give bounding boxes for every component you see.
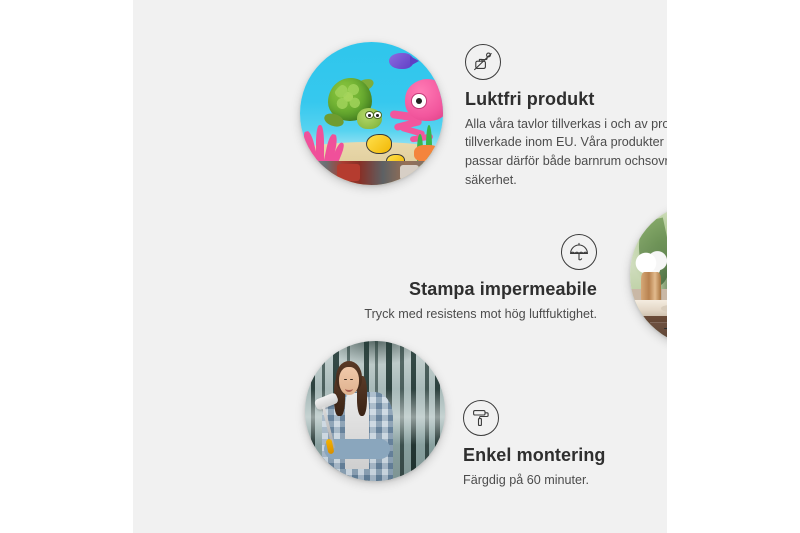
feature-title: Luktfri produkt <box>465 89 667 110</box>
no-fragrance-icon <box>465 44 501 80</box>
blue-fish <box>389 53 413 69</box>
paint-roller-icon <box>463 400 499 436</box>
wood-vanity <box>641 316 667 346</box>
feature-title: Enkel montering <box>463 445 667 466</box>
woman-figure <box>313 361 400 481</box>
octopus <box>389 79 443 142</box>
room-strip <box>300 161 443 185</box>
feature-banner: Luktfri produkt Alla våra tavlor tillver… <box>0 0 800 533</box>
bathroom-wallpaper-photo <box>630 203 667 346</box>
sea-turtle <box>323 76 389 136</box>
feature-odourless: Luktfri produkt Alla våra tavlor tillver… <box>465 44 667 189</box>
feature-body: Alla våra tavlor tillverkas i och av pro… <box>465 115 667 190</box>
feature-body: Färgdig på 60 minuter. <box>463 471 667 490</box>
content-panel: Luktfri produkt Alla våra tavlor tillver… <box>133 0 667 533</box>
feature-title: Stampa impermeabile <box>329 279 597 300</box>
underwater-cartoon-photo <box>300 42 443 185</box>
installer-forest-photo <box>305 341 445 481</box>
feature-easy-installation: Enkel montering Färgdig på 60 minuter. <box>463 400 667 489</box>
umbrella-icon <box>561 234 597 270</box>
starfish <box>414 145 440 162</box>
soap-dish <box>661 305 667 312</box>
feature-body: Tryck med resistens mot hög luftfuktighe… <box>329 305 597 324</box>
feature-waterproof: Stampa impermeabile Tryck med resistens … <box>329 234 597 323</box>
yellow-fish <box>366 134 392 155</box>
